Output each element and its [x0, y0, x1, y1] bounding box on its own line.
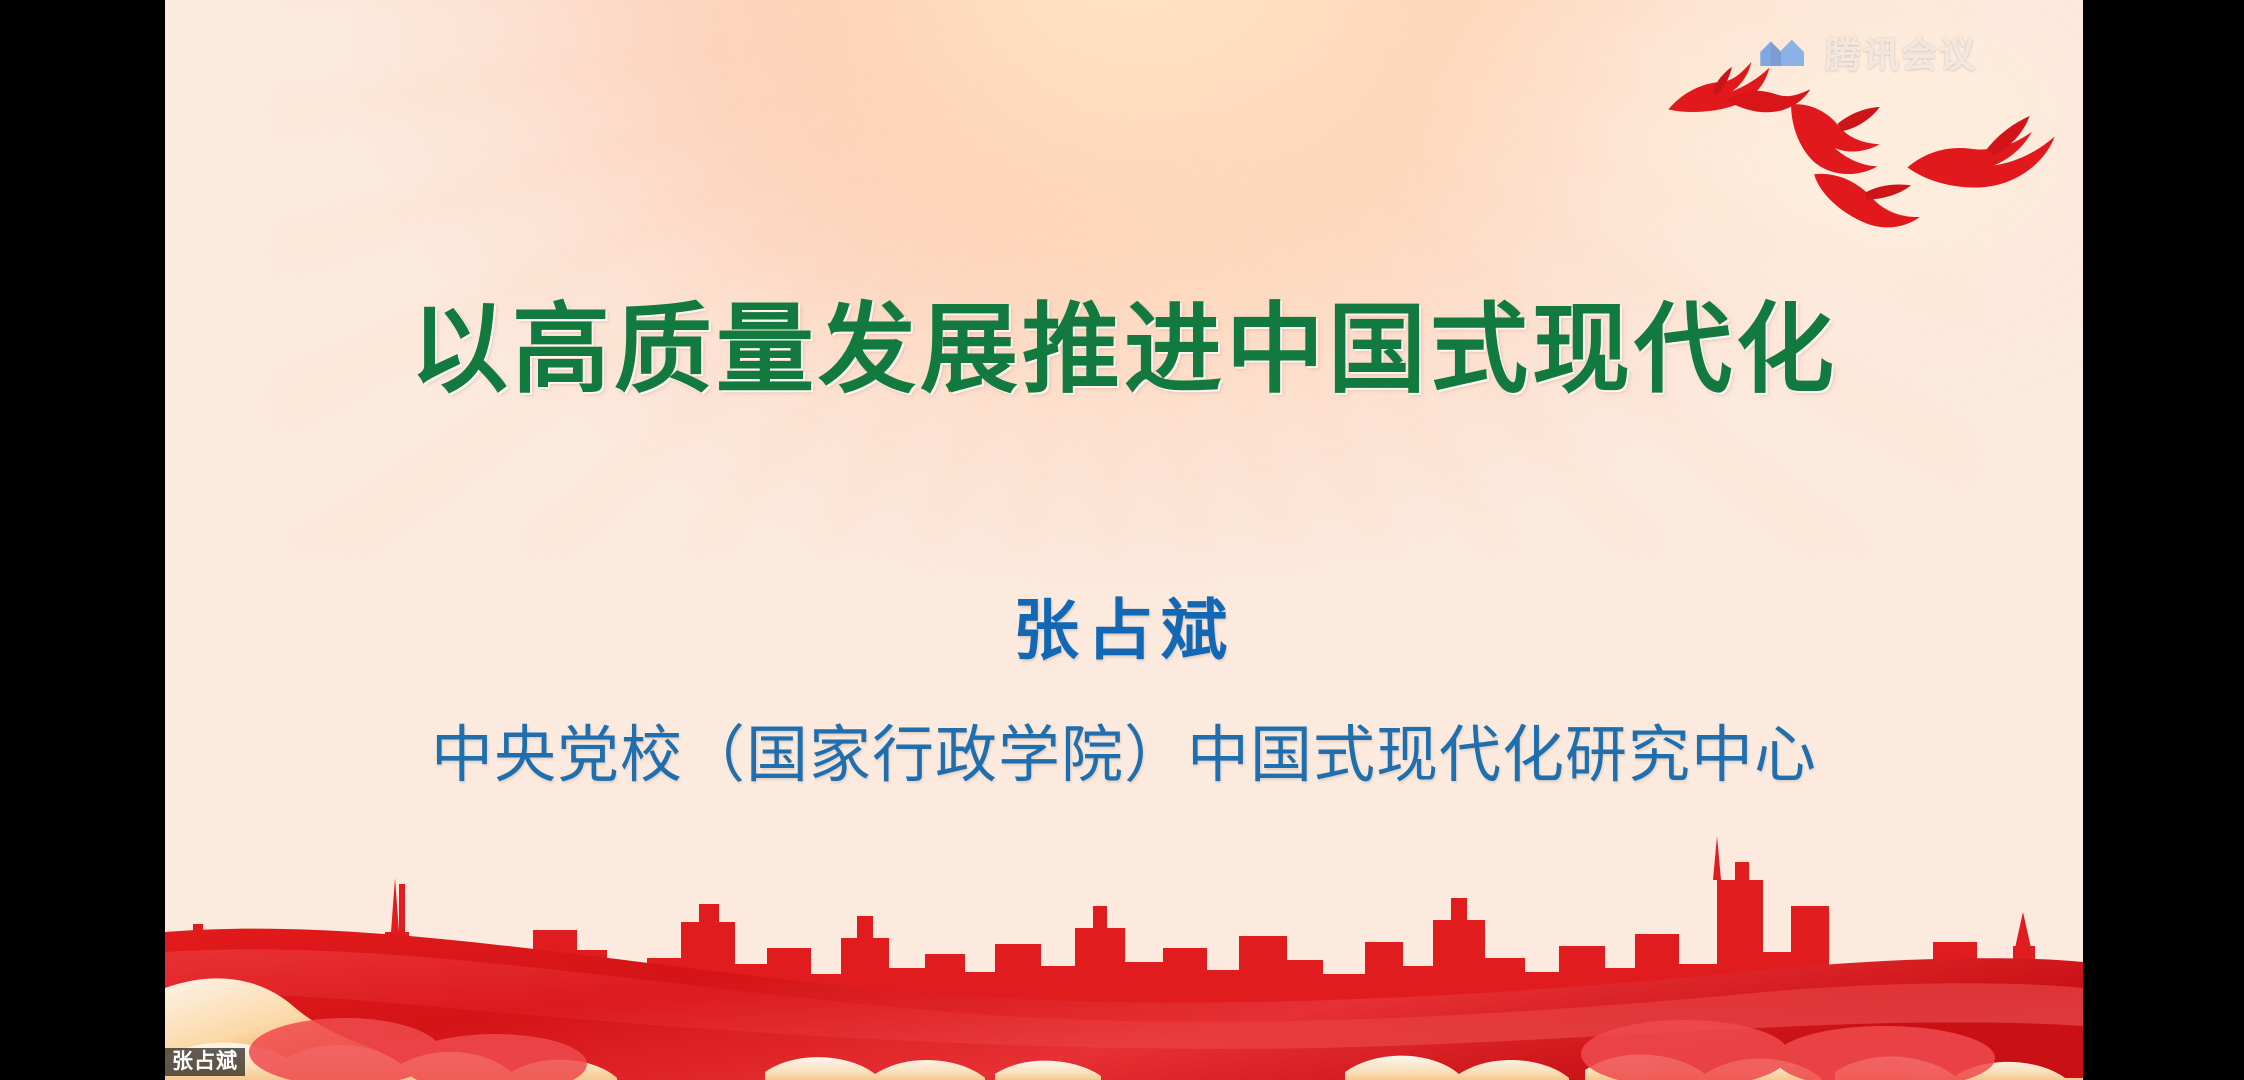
watermark-label: 腾讯会议 [1825, 26, 1977, 78]
slide-title: 以高质量发展推进中国式现代化 [165, 270, 2083, 412]
tencent-meeting-watermark: 腾讯会议 [1755, 26, 1977, 78]
screen-share-stage: 腾讯会议 以高质量发展推进中国式现代化 张占斌 中央党校（国家行政学院）中国式现… [0, 0, 2244, 1080]
slide-affiliation: 中央党校（国家行政学院）中国式现代化研究中心 [165, 704, 2083, 794]
tencent-meeting-logo-icon [1755, 30, 1811, 74]
letterbox-left [0, 0, 165, 1080]
shared-slide: 腾讯会议 以高质量发展推进中国式现代化 张占斌 中央党校（国家行政学院）中国式现… [165, 0, 2083, 1080]
letterbox-right [2083, 0, 2244, 1080]
participant-name-badge: 张占斌 [165, 1048, 245, 1076]
skyline-ribbon-decoration [165, 820, 2083, 1080]
slide-speaker-name: 张占斌 [165, 577, 2083, 673]
